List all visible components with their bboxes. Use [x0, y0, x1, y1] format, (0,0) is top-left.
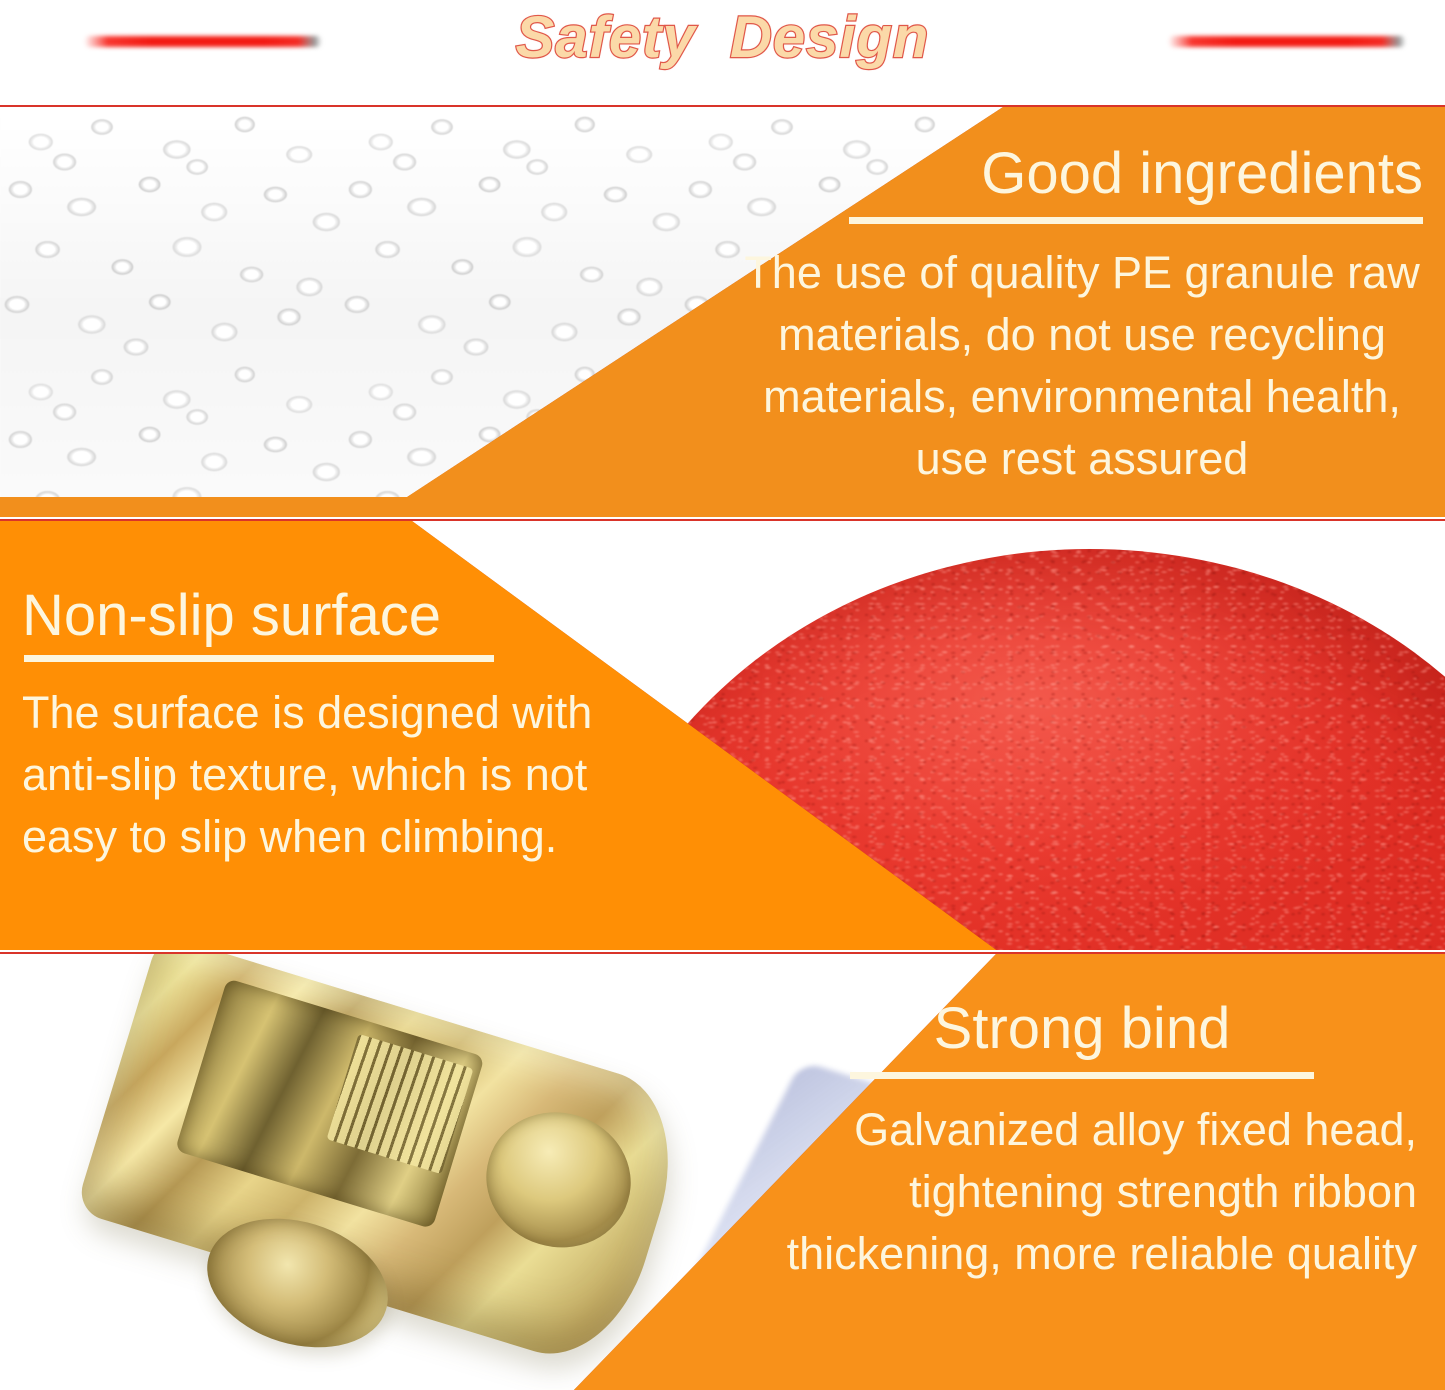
title-underline	[850, 1072, 1314, 1079]
panel-title-strong-bind: Strong bind	[747, 996, 1417, 1062]
panel-body-good-ingredients: The use of quality PE granule raw materi…	[737, 242, 1427, 490]
feature-panel-good-ingredients: Good ingredients The use of quality PE g…	[0, 105, 1445, 517]
feature-panel-strong-bind: Strong bind Galvanized alloy fixed head,…	[0, 952, 1445, 1390]
copy-block-good-ingredients: Good ingredients The use of quality PE g…	[737, 141, 1427, 490]
panel-body-strong-bind: Galvanized alloy fixed head, tightening …	[747, 1099, 1417, 1285]
title-underline	[849, 217, 1423, 224]
panel-title-good-ingredients: Good ingredients	[737, 141, 1427, 207]
feature-panel-non-slip-surface: Non-slip surface The surface is designed…	[0, 519, 1445, 950]
panel-title-non-slip-surface: Non-slip surface	[22, 583, 670, 649]
copy-block-non-slip-surface: Non-slip surface The surface is designed…	[22, 583, 670, 868]
page-title: Safety Design	[0, 0, 1445, 76]
panel-body-non-slip-surface: The surface is designed with anti-slip t…	[22, 682, 670, 868]
title-underline	[24, 655, 494, 662]
page-header: Safety Design	[0, 0, 1445, 105]
copy-block-strong-bind: Strong bind Galvanized alloy fixed head,…	[747, 996, 1417, 1285]
